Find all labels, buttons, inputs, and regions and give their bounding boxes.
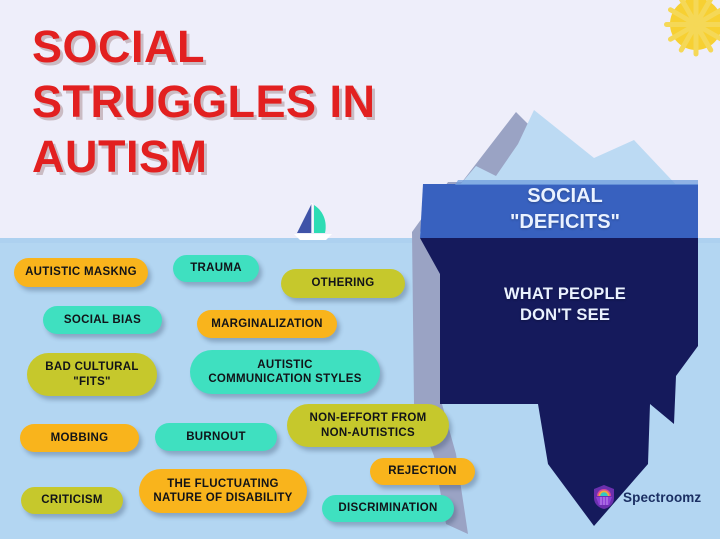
- brand-name: Spectroomz: [623, 490, 701, 505]
- struggle-pill[interactable]: THE FLUCTUATING NATURE OF DISABILITY: [139, 469, 307, 513]
- sailboat-icon: [290, 200, 336, 242]
- struggle-pill[interactable]: REJECTION: [370, 458, 475, 485]
- struggle-pill[interactable]: TRAUMA: [173, 255, 259, 282]
- spectroomz-shield-icon: [592, 484, 616, 510]
- struggle-pill[interactable]: BURNOUT: [155, 423, 277, 451]
- page-title: SOCIAL STRUGGLES IN AUTISM: [32, 20, 432, 185]
- struggle-pill[interactable]: MARGINALIZATION: [197, 310, 337, 338]
- iceberg-below-water-label: WHAT PEOPLE DON'T SEE: [470, 284, 660, 326]
- struggle-pill[interactable]: AUTISTIC COMMUNICATION STYLES: [190, 350, 380, 394]
- struggle-pill[interactable]: AUTISTIC MASKNG: [14, 258, 148, 287]
- iceberg-above-water-label: SOCIAL "DEFICITS": [470, 184, 660, 235]
- struggle-pill[interactable]: DISCRIMINATION: [322, 495, 454, 522]
- infographic-canvas: SOCIAL STRUGGLES IN AUTISM SOCIAL "DEFIC…: [0, 0, 720, 539]
- struggle-pill[interactable]: NON-EFFORT FROM NON-AUTISTICS: [287, 404, 449, 447]
- struggle-pill[interactable]: MOBBING: [20, 424, 139, 452]
- struggle-pill[interactable]: CRITICISM: [21, 487, 123, 514]
- struggle-pill[interactable]: OTHERING: [281, 269, 405, 298]
- struggle-pill[interactable]: BAD CULTURAL "FITS": [27, 353, 157, 396]
- struggle-pill[interactable]: SOCIAL BIAS: [43, 306, 162, 334]
- sun-icon: [640, 0, 720, 80]
- brand-logo[interactable]: Spectroomz: [592, 484, 701, 510]
